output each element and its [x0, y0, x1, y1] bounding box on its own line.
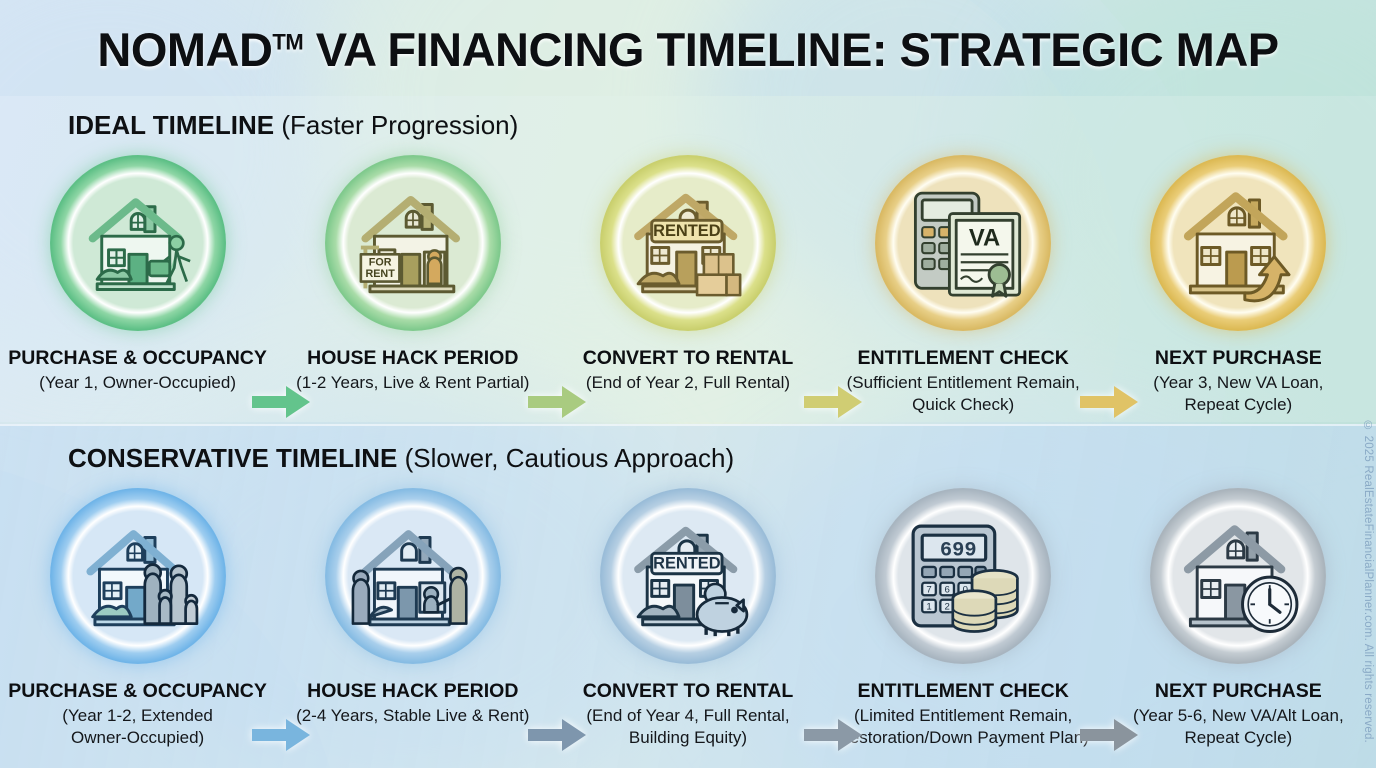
- house-with-buyer-icon: [70, 175, 206, 311]
- svg-text:7: 7: [926, 584, 931, 595]
- step-title: ENTITLEMENT CHECK: [824, 680, 1102, 703]
- step-subtitle: (Year 1-2, ExtendedOwner-Occupied): [0, 705, 277, 749]
- step-house-hack-conservative[interactable]: HOUSE HACK PERIOD (2-4 Years, Stable Liv…: [275, 488, 550, 749]
- arrow-conservative-3: [804, 718, 864, 752]
- step-subtitle: (Year 1, Owner-Occupied): [0, 372, 277, 394]
- rented-banner-text: RENTED: [653, 555, 721, 573]
- svg-text:1: 1: [926, 601, 931, 612]
- house-rented-piggybank-icon: RENTED: [620, 508, 756, 644]
- for-rent-line2: RENT: [365, 268, 395, 280]
- step-caption: ENTITLEMENT CHECK (Sufficient Entitlemen…: [824, 347, 1102, 416]
- step-caption: ENTITLEMENT CHECK (Limited Entitlement R…: [824, 680, 1102, 749]
- step-title: PURCHASE & OCCUPANCY: [0, 347, 277, 370]
- step-title: CONVERT TO RENTAL: [549, 680, 827, 703]
- calculator-va-certificate-icon: VA: [895, 175, 1031, 311]
- step-subtitle: (Year 3, New VA Loan,Repeat Cycle): [1099, 372, 1376, 416]
- step-convert-rental-conservative[interactable]: RENTED CONVERT TO RENTAL (End of Year 4,…: [550, 488, 825, 749]
- conservative-section-heading: CONSERVATIVE TIMELINE (Slower, Cautious …: [68, 443, 734, 474]
- step-badge: [50, 488, 226, 664]
- ideal-heading-bold: IDEAL TIMELINE: [68, 110, 274, 140]
- title-main-after: VA FINANCING TIMELINE: STRATEGIC MAP: [303, 23, 1278, 76]
- va-certificate-text: VA: [969, 224, 1000, 251]
- trademark-symbol: TM: [272, 29, 303, 54]
- step-title: NEXT PURCHASE: [1099, 680, 1376, 703]
- step-badge: [1150, 488, 1326, 664]
- step-caption: CONVERT TO RENTAL (End of Year 2, Full R…: [549, 347, 827, 394]
- ideal-section-heading: IDEAL TIMELINE (Faster Progression): [68, 110, 518, 141]
- rented-banner-text: RENTED: [653, 222, 721, 240]
- step-title: ENTITLEMENT CHECK: [824, 347, 1102, 370]
- svg-text:6: 6: [945, 584, 950, 595]
- step-next-purchase-ideal[interactable]: NEXT PURCHASE (Year 3, New VA Loan,Repea…: [1101, 155, 1376, 416]
- house-with-clock-icon: [1170, 508, 1306, 644]
- arrow-conservative-1: [252, 718, 312, 752]
- step-badge: RENTED: [600, 488, 776, 664]
- conservative-timeline-steps: PURCHASE & OCCUPANCY (Year 1-2, Extended…: [0, 488, 1376, 749]
- arrow-ideal-3: [804, 385, 864, 419]
- arrow-ideal-1: [252, 385, 312, 419]
- step-title: HOUSE HACK PERIOD: [274, 347, 552, 370]
- step-caption: NEXT PURCHASE (Year 3, New VA Loan,Repea…: [1099, 347, 1376, 416]
- step-badge: VA: [875, 155, 1051, 331]
- for-rent-line1: FOR: [369, 257, 392, 269]
- ideal-heading-sub: (Faster Progression): [274, 110, 518, 140]
- conservative-heading-sub: (Slower, Cautious Approach): [397, 443, 734, 473]
- step-badge: FOR RENT: [325, 155, 501, 331]
- arrow-ideal-2: [528, 385, 588, 419]
- infographic-page: NOMADTM VA FINANCING TIMELINE: STRATEGIC…: [0, 0, 1376, 768]
- step-subtitle: (Year 5-6, New VA/Alt Loan,Repeat Cycle): [1099, 705, 1376, 749]
- calculator-display-text: 699: [940, 540, 977, 563]
- step-convert-rental-ideal[interactable]: RENTED CONVERT TO RENTAL (End of Year 2,…: [550, 155, 825, 416]
- step-house-hack-ideal[interactable]: FOR RENT HOUSE HACK PERIOD (1-2 Years, L…: [275, 155, 550, 416]
- step-caption: HOUSE HACK PERIOD (2-4 Years, Stable Liv…: [274, 680, 552, 727]
- ideal-timeline-steps: PURCHASE & OCCUPANCY (Year 1, Owner-Occu…: [0, 155, 1376, 416]
- house-with-tenants-icon: [345, 508, 481, 644]
- step-caption: PURCHASE & OCCUPANCY (Year 1-2, Extended…: [0, 680, 277, 749]
- step-caption: NEXT PURCHASE (Year 5-6, New VA/Alt Loan…: [1099, 680, 1376, 749]
- house-with-family-icon: [70, 508, 206, 644]
- step-subtitle: (1-2 Years, Live & Rent Partial): [274, 372, 552, 394]
- page-title: NOMADTM VA FINANCING TIMELINE: STRATEGIC…: [0, 22, 1376, 77]
- step-badge: [1150, 155, 1326, 331]
- copyright-notice: © 2025 RealEstateFinancialPlanner.com. A…: [1362, 420, 1374, 743]
- arrow-ideal-4: [1080, 385, 1140, 419]
- step-title: HOUSE HACK PERIOD: [274, 680, 552, 703]
- step-caption: HOUSE HACK PERIOD (1-2 Years, Live & Ren…: [274, 347, 552, 394]
- step-subtitle: (Sufficient Entitlement Remain,Quick Che…: [824, 372, 1102, 416]
- svg-text:2: 2: [945, 601, 950, 612]
- step-title: CONVERT TO RENTAL: [549, 347, 827, 370]
- step-badge: RENTED: [600, 155, 776, 331]
- calculator-coins-icon: 699: [895, 508, 1031, 644]
- step-subtitle: (2-4 Years, Stable Live & Rent): [274, 705, 552, 727]
- arrow-conservative-4: [1080, 718, 1140, 752]
- title-main-before: NOMAD: [97, 23, 272, 76]
- step-title: NEXT PURCHASE: [1099, 347, 1376, 370]
- step-title: PURCHASE & OCCUPANCY: [0, 680, 277, 703]
- step-badge: [50, 155, 226, 331]
- step-badge: [325, 488, 501, 664]
- arrow-conservative-2: [528, 718, 588, 752]
- step-caption: CONVERT TO RENTAL (End of Year 4, Full R…: [549, 680, 827, 749]
- step-subtitle: (End of Year 4, Full Rental,Building Equ…: [549, 705, 827, 749]
- conservative-heading-bold: CONSERVATIVE TIMELINE: [68, 443, 397, 473]
- step-caption: PURCHASE & OCCUPANCY (Year 1, Owner-Occu…: [0, 347, 277, 394]
- step-purchase-occupancy-conservative[interactable]: PURCHASE & OCCUPANCY (Year 1-2, Extended…: [0, 488, 275, 749]
- house-for-rent-sign-icon: FOR RENT: [345, 175, 481, 311]
- step-entitlement-check-ideal[interactable]: VA ENTITLEMENT CHECK (Sufficient Entitle…: [826, 155, 1101, 416]
- house-rented-boxes-icon: RENTED: [620, 175, 756, 311]
- step-next-purchase-conservative[interactable]: NEXT PURCHASE (Year 5-6, New VA/Alt Loan…: [1101, 488, 1376, 749]
- step-entitlement-check-conservative[interactable]: 699: [826, 488, 1101, 749]
- step-badge: 699: [875, 488, 1051, 664]
- step-subtitle: (Limited Entitlement Remain,Restoration/…: [824, 705, 1102, 749]
- step-purchase-occupancy-ideal[interactable]: PURCHASE & OCCUPANCY (Year 1, Owner-Occu…: [0, 155, 275, 416]
- house-upward-arrow-icon: [1170, 175, 1306, 311]
- step-subtitle: (End of Year 2, Full Rental): [549, 372, 827, 394]
